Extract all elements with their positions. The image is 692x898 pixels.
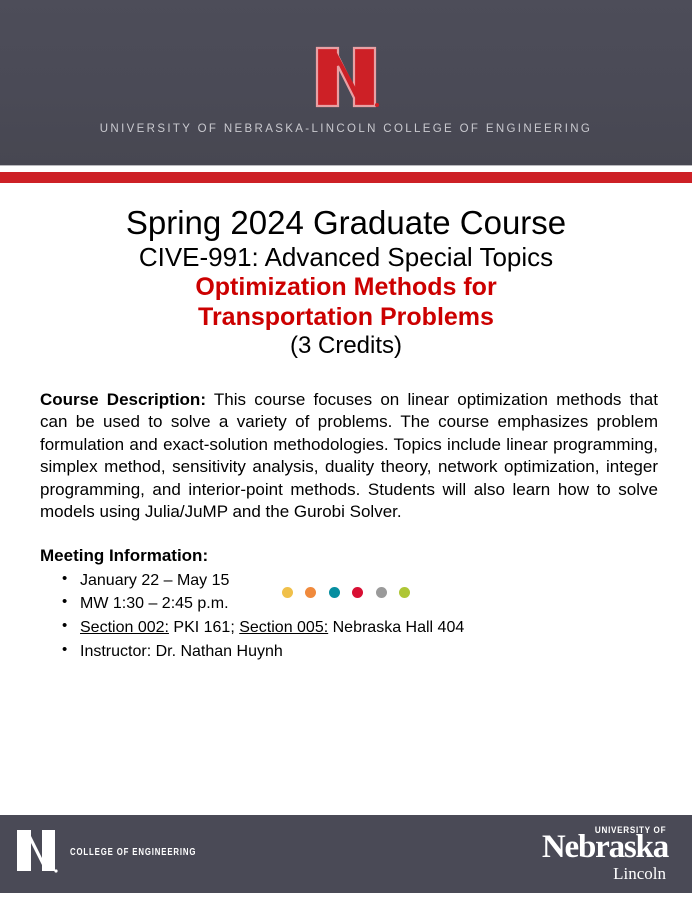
header-band: UNIVERSITY OF NEBRASKA-LINCOLN COLLEGE O… xyxy=(0,0,692,165)
credits-label: (3 Credits) xyxy=(0,332,692,361)
wordmark-nebraska: Nebraska xyxy=(542,831,668,864)
nebraska-n-logo-icon xyxy=(313,44,379,114)
footer-college-lockup: COLLEGE OF ENGINEERING xyxy=(14,827,232,877)
course-name-line-1: Optimization Methods for xyxy=(0,273,692,303)
dot-yellow xyxy=(282,587,293,598)
nebraska-n-white-icon xyxy=(14,827,58,877)
list-item: Instructor: Dr. Nathan Huynh xyxy=(62,640,692,664)
course-description-body: This course focuses on linear optimizati… xyxy=(40,390,658,521)
meeting-information-list: January 22 – May 15 MW 1:30 – 2:45 p.m. … xyxy=(40,569,692,664)
instructor-name: Instructor: Dr. Nathan Huynh xyxy=(80,643,283,660)
meeting-information-section: Meeting Information: January 22 – May 15… xyxy=(40,546,692,664)
header-logo-wrap xyxy=(0,44,692,114)
page-title: Spring 2024 Graduate Course xyxy=(0,205,692,242)
footer-university-wordmark: UNIVERSITY OF Nebraska Lincoln xyxy=(518,823,668,885)
header-tagline: UNIVERSITY OF NEBRASKA-LINCOLN COLLEGE O… xyxy=(0,123,692,135)
dot-green xyxy=(399,587,410,598)
meeting-information-heading: Meeting Information: xyxy=(40,546,692,566)
section-002-label: Section 002: xyxy=(80,619,169,636)
footer-band: COLLEGE OF ENGINEERING UNIVERSITY OF Neb… xyxy=(0,815,692,893)
dot-gray xyxy=(376,587,387,598)
main-content: Spring 2024 Graduate Course CIVE-991: Ad… xyxy=(0,183,692,805)
title-block: Spring 2024 Graduate Course CIVE-991: Ad… xyxy=(0,183,692,361)
course-code-subtitle: CIVE-991: Advanced Special Topics xyxy=(0,242,692,273)
meeting-dates: January 22 – May 15 xyxy=(80,572,229,589)
dot-crimson xyxy=(352,587,363,598)
dot-orange xyxy=(305,587,316,598)
footer-college-text: COLLEGE OF ENGINEERING xyxy=(70,847,196,858)
course-description: Course Description: This course focuses … xyxy=(40,389,658,524)
list-item: Section 002: PKI 161; Section 005: Nebra… xyxy=(62,616,692,640)
red-accent-stripe xyxy=(0,172,692,183)
section-002-room: PKI 161; xyxy=(169,619,239,636)
section-005-room: Nebraska Hall 404 xyxy=(328,619,464,636)
wordmark-lincoln: Lincoln xyxy=(613,865,666,882)
section-005-label: Section 005: xyxy=(239,619,328,636)
dot-teal xyxy=(329,587,340,598)
course-name-line-2: Transportation Problems xyxy=(0,303,692,333)
decorative-dot-row xyxy=(0,587,692,598)
course-description-label: Course Description: xyxy=(40,390,206,409)
footer-bottom-strip xyxy=(0,893,692,898)
